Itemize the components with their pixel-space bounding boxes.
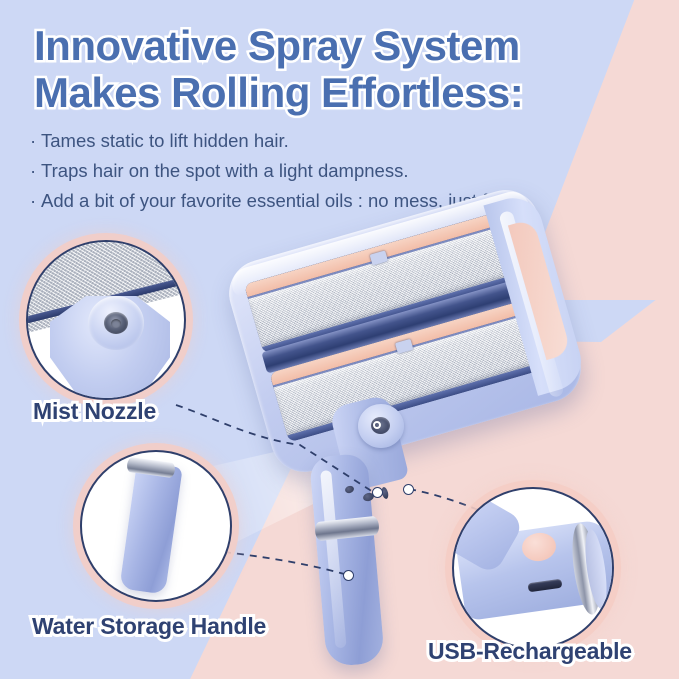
callout-label-usb-rechargeable: USB-Rechargeable [428,638,632,665]
callout-label-water-storage-handle: Water Storage Handle [32,613,266,640]
inset-usb-rechargeable [452,487,614,649]
connector-endpoint-usb [403,484,414,495]
water-tank-cap [126,457,176,479]
nozzle-aperture-inner-icon [111,319,121,328]
infographic-canvas: Innovative Spray System Makes Rolling Ef… [0,0,679,679]
inset-mist-nozzle [26,240,186,400]
inset-water-storage-handle [80,450,232,602]
handle-highlight [320,470,346,648]
connector-endpoint-nozzle [372,487,383,498]
callout-label-mist-nozzle: Mist Nozzle [33,398,156,425]
water-tank-cylinder-icon [119,461,182,594]
roller-head-body [221,182,589,480]
water-tank-highlight [165,492,203,600]
nozzle-ring-icon [373,421,381,429]
connector-endpoint-handle [343,570,354,581]
